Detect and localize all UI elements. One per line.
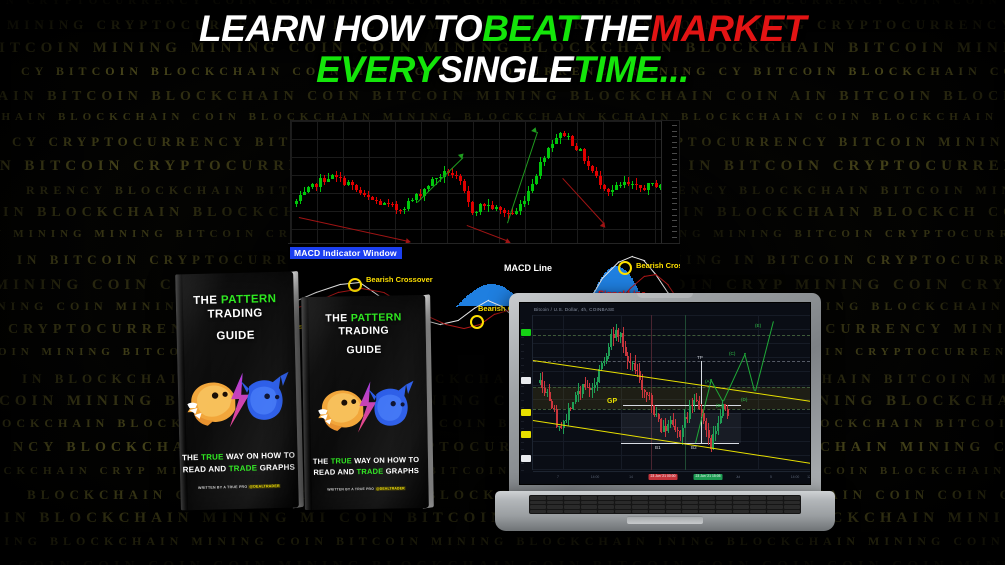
candle — [639, 185, 642, 193]
book-title-guide: GUIDE — [216, 329, 255, 342]
candle — [399, 209, 402, 214]
book-sub-graphs: GRAPHS — [257, 462, 295, 472]
book-sub-the: THE — [182, 453, 201, 462]
lc-price-tag — [521, 329, 531, 336]
candle — [327, 173, 330, 182]
book-title-the: THE — [325, 312, 351, 324]
keyboard-key[interactable] — [750, 510, 766, 514]
axis-tick — [672, 192, 677, 193]
candle — [455, 171, 458, 179]
lc-price-tick: — — [521, 440, 524, 444]
candle — [319, 174, 322, 192]
macd-window-title: MACD Indicator Window — [290, 247, 402, 259]
candle — [655, 180, 658, 188]
lc-price-tick: — — [521, 426, 524, 430]
keyboard-key[interactable] — [784, 496, 800, 500]
keyboard-key[interactable] — [784, 501, 800, 505]
bear-bull-logo — [184, 366, 290, 435]
lc-gridline-h — [533, 315, 810, 316]
keyboard-key[interactable] — [666, 501, 682, 505]
lc-price-tick: — — [521, 384, 524, 388]
candle — [499, 206, 502, 214]
crossover-marker-yellow-4 — [618, 261, 632, 275]
book-sub-graphs: GRAPHS — [383, 466, 419, 476]
lc-time-tick: 14 — [629, 475, 633, 479]
book-cover-left: THE PATTERN TRADING GUIDE — [175, 272, 299, 511]
lc-price-tag — [521, 431, 531, 438]
candle — [395, 201, 398, 214]
lc-label-wave-b: (B) — [716, 403, 722, 408]
keyboard-key[interactable] — [581, 501, 597, 505]
candle — [619, 182, 622, 189]
lc-price-tag — [521, 455, 531, 462]
book-title-the: THE — [193, 294, 221, 307]
axis-tick — [672, 231, 677, 232]
candle — [471, 201, 474, 215]
axis-tick — [672, 136, 677, 137]
candle — [479, 203, 482, 215]
candle — [607, 188, 610, 196]
keyboard-key[interactable] — [564, 501, 580, 505]
keyboard-key[interactable] — [530, 510, 546, 514]
keyboard-key[interactable] — [682, 505, 698, 509]
keyboard-key[interactable] — [615, 510, 631, 514]
candle — [451, 168, 454, 178]
axis-tick — [672, 170, 677, 171]
book-front-cover: THE PATTERN TRADING GUIDE — [175, 272, 299, 511]
keyboard-key[interactable] — [767, 510, 783, 514]
candle — [335, 171, 338, 182]
keyboard-key[interactable] — [750, 501, 766, 505]
axis-tick — [672, 226, 677, 227]
book-sub-the: THE — [313, 457, 331, 466]
candle — [371, 196, 374, 200]
laptop-screen: Bitcoin / U.S. Dollar, 4h, COINBASE ————… — [519, 302, 811, 485]
lc-label-wave-d: (D) — [741, 397, 747, 402]
crossover-marker-yellow-1 — [348, 278, 362, 292]
keyboard-key[interactable] — [733, 510, 749, 514]
candle — [579, 148, 582, 152]
lc-price-tick: — — [521, 419, 524, 423]
gridline-h — [291, 139, 679, 140]
gridline-h — [291, 157, 679, 158]
lc-price-tick: — — [521, 356, 524, 360]
keyboard-key[interactable] — [615, 501, 631, 505]
lc-label-gp: GP — [607, 398, 617, 405]
crossover-marker-yellow-3 — [470, 315, 484, 329]
keyboard-key[interactable] — [733, 501, 749, 505]
keyboard-key[interactable] — [716, 501, 732, 505]
keyboard-key[interactable] — [564, 496, 580, 500]
axis-tick — [672, 187, 677, 188]
book-author-line: WRITTEN BY A TRUE PRO @DEALTRADER — [180, 484, 298, 491]
candle — [523, 196, 526, 207]
candle — [387, 199, 390, 207]
keyboard-key[interactable] — [598, 501, 614, 505]
book-author-text: WRITTEN BY A TRUE PRO — [327, 487, 375, 492]
candle — [459, 174, 462, 185]
macd-histogram-bar — [456, 306, 458, 307]
keyboard-key[interactable] — [699, 496, 715, 500]
keyboard-key[interactable] — [784, 505, 800, 509]
candle — [627, 177, 630, 186]
candle — [379, 199, 382, 206]
bear-bull-logo — [311, 375, 420, 439]
lc-label-b2: B2 — [691, 445, 697, 450]
axis-tick — [672, 203, 677, 204]
book-title-guide: GUIDE — [346, 344, 381, 357]
lc-label-b1: B1 — [655, 445, 661, 450]
keyboard-key[interactable] — [666, 505, 682, 509]
lc-price-tick: — — [521, 321, 524, 325]
book-sub-true: TRUE — [331, 456, 352, 465]
candle — [367, 191, 370, 200]
laptop-lid-notch — [637, 293, 693, 298]
headline-word-1: SINGLE — [438, 49, 573, 90]
keyboard-key[interactable] — [767, 501, 783, 505]
candle — [487, 199, 490, 212]
keyboard-key[interactable] — [699, 510, 715, 514]
candle — [307, 186, 310, 193]
book-sub-trade: TRADE — [357, 467, 384, 476]
candle — [411, 198, 414, 202]
candle — [623, 176, 626, 188]
lc-time-tick: 5 — [770, 475, 772, 479]
gridline-h — [291, 193, 679, 194]
lc-time-tick: Jul — [736, 475, 740, 479]
lc-time-tick: 14:00 — [791, 475, 800, 479]
candle — [363, 190, 366, 197]
gridline-h — [291, 175, 679, 176]
keyboard-key[interactable] — [581, 505, 597, 509]
keyboard-key[interactable] — [547, 501, 563, 505]
keyboard-key[interactable] — [598, 505, 614, 509]
candle — [347, 180, 350, 186]
candle — [463, 179, 466, 194]
lc-candle — [727, 405, 729, 419]
axis-tick — [672, 237, 677, 238]
book-sub-true: TRUE — [201, 452, 224, 462]
candle — [407, 198, 410, 211]
book-title: THE PATTERN TRADING GUIDE — [301, 311, 426, 359]
candle — [515, 208, 518, 216]
lc-gridline-h — [533, 385, 810, 386]
book-author-line: WRITTEN BY A TRUE PRO @DEALTRADER — [304, 486, 428, 492]
signal-line — [446, 324, 465, 329]
keyboard-key[interactable] — [615, 505, 631, 509]
keyboard-key[interactable] — [564, 510, 580, 514]
candle — [559, 132, 562, 144]
laptop-keyboard — [529, 495, 801, 514]
laptop-mockup: Bitcoin / U.S. Dollar, 4h, COINBASE ————… — [495, 293, 835, 535]
book-sub-way: WAY ON HOW TO — [352, 455, 419, 465]
keyboard-key[interactable] — [682, 510, 698, 514]
book-title-trading: TRADING — [207, 308, 262, 321]
keyboard-key[interactable] — [682, 496, 698, 500]
book-logo-wrapper — [303, 373, 428, 441]
keyboard-key[interactable] — [564, 505, 580, 509]
candle — [575, 143, 578, 151]
headline-word-2: TIME... — [573, 49, 689, 90]
candle — [631, 181, 634, 189]
lc-price-tick: — — [521, 398, 524, 402]
keyboard-key[interactable] — [632, 501, 648, 505]
lc-gridline-h — [533, 329, 810, 330]
axis-tick — [672, 181, 677, 182]
background-text-row: AIN BITCOIN BLOCKCHAIN COIN BITCOIN MINI… — [0, 90, 1005, 104]
candle — [555, 134, 558, 144]
headline-line-2: EVERY SINGLE TIME... — [0, 49, 1005, 90]
candle — [375, 197, 378, 204]
keyboard-key[interactable] — [547, 496, 563, 500]
keyboard-key[interactable] — [649, 505, 665, 509]
keyboard-key[interactable] — [767, 505, 783, 509]
lc-price-tick: — — [521, 349, 524, 353]
lc-time-tick: 12 — [807, 475, 811, 479]
lc-price-tick: — — [521, 447, 524, 451]
keyboard-key[interactable] — [530, 505, 546, 509]
candle — [651, 183, 654, 186]
headline-word-0: LEARN HOW TO — [199, 8, 482, 49]
lc-candle — [568, 403, 570, 426]
keyboard-key[interactable] — [733, 496, 749, 500]
book-sub-trade: TRADE — [229, 463, 258, 473]
candle — [583, 148, 586, 164]
lc-time-badge-red: 23 Jun '21 00:00 — [649, 474, 678, 480]
book-author-handle: @DEALTRADER — [248, 484, 280, 489]
lc-label-wave-e: (E) — [755, 323, 761, 328]
candle — [531, 179, 534, 193]
laptop-lid: Bitcoin / U.S. Dollar, 4h, COINBASE ————… — [509, 293, 821, 498]
trend-arrow-up-2 — [507, 132, 538, 223]
book-logo-wrapper — [177, 364, 297, 437]
lc-label-wave-a: (A) — [705, 379, 711, 384]
gridline-h — [291, 211, 679, 212]
candle — [563, 131, 566, 137]
candle — [359, 187, 362, 194]
candle — [547, 147, 550, 159]
candle — [599, 171, 602, 189]
lc-label-tp: TP — [697, 355, 703, 360]
keyboard-key[interactable] — [699, 501, 715, 505]
candle — [303, 187, 306, 196]
candle — [311, 183, 314, 189]
headline-word-0: EVERY — [316, 49, 438, 90]
book-cover-right: THE PATTERN TRADING GUIDE — [301, 295, 429, 510]
book-subtitle: THE TRUE WAY ON HOW TO READ AND TRADE GR… — [179, 450, 298, 476]
axis-tick — [672, 175, 677, 176]
candle — [571, 135, 574, 145]
lc-time-badge-green: 23 Jun '21 15:05 — [694, 474, 723, 480]
laptop-chart-price-axis: —————————————————————— — [520, 315, 533, 470]
lc-price-tick: — — [521, 370, 524, 374]
crossover-label-4: Bearish Crossover — [636, 261, 680, 270]
book-sub-read: READ AND — [183, 464, 229, 474]
lc-level-dashed — [533, 409, 810, 410]
keyboard-key[interactable] — [649, 510, 665, 514]
axis-tick — [672, 198, 677, 199]
laptop-trackpad[interactable] — [627, 516, 703, 524]
lc-time-tick: 7 — [557, 475, 559, 479]
laptop-chart-plot: TPGPB1B2(A)(B)(C)(D)(E) — [533, 315, 810, 470]
keyboard-key[interactable] — [666, 496, 682, 500]
lc-price-tick: — — [521, 363, 524, 367]
candle — [339, 172, 342, 182]
lc-price-tag — [521, 409, 531, 416]
keyboard-key[interactable] — [598, 496, 614, 500]
candle — [591, 165, 594, 173]
keyboard-key[interactable] — [530, 501, 546, 505]
trend-arrow-up-1 — [417, 157, 464, 203]
axis-tick — [672, 153, 677, 154]
keyboard-key[interactable] — [547, 505, 563, 509]
headline-word-2: THE — [578, 8, 651, 49]
background-text-row: COIN CRYPTOCURRENCY COIN COIN MINING COI… — [0, 0, 1005, 7]
lc-gridline-h — [533, 371, 810, 372]
candle — [495, 205, 498, 211]
crossover-label-1: Bearish Crossover — [366, 275, 433, 284]
keyboard-key[interactable] — [716, 496, 732, 500]
book-author-handle: @DEALTRADER — [375, 486, 406, 491]
keyboard-key[interactable] — [733, 505, 749, 509]
keyboard-key[interactable] — [649, 496, 665, 500]
candle — [315, 183, 318, 191]
candle — [527, 186, 530, 205]
keyboard-key[interactable] — [784, 510, 800, 514]
keyboard-key[interactable] — [632, 505, 648, 509]
keyboard-key[interactable] — [750, 505, 766, 509]
candle — [503, 208, 506, 217]
keyboard-key[interactable] — [530, 496, 546, 500]
lc-price-tick: — — [521, 342, 524, 346]
background-text-row: INING BLOCKCHAIN MINING COIN BITCOIN MIN… — [0, 535, 1005, 547]
candle — [519, 200, 522, 215]
candle — [643, 185, 646, 191]
keyboard-key[interactable] — [632, 496, 648, 500]
candle — [355, 184, 358, 193]
candle — [543, 156, 546, 167]
headline-word-3: MARKET — [651, 8, 806, 49]
macd-line-label: MACD Line — [504, 263, 552, 273]
candle — [535, 174, 538, 184]
book-title-trading: TRADING — [338, 325, 389, 338]
candle — [491, 201, 494, 210]
book-title-pattern: PATTERN — [221, 293, 277, 306]
axis-tick — [672, 147, 677, 148]
candle — [331, 174, 334, 179]
keyboard-key[interactable] — [716, 510, 732, 514]
candle — [567, 133, 570, 140]
gridline-h — [291, 121, 679, 122]
axis-tick — [672, 209, 677, 210]
axis-tick — [672, 131, 677, 132]
axis-tick — [672, 164, 677, 165]
candle — [595, 167, 598, 178]
background-text-row: COIN COIN COIN COIN MINING BLOCKCHAIN CO… — [18, 560, 1005, 565]
book-title: THE PATTERN TRADING GUIDE — [176, 292, 295, 345]
keyboard-key[interactable] — [581, 510, 597, 514]
candle — [467, 186, 470, 207]
keyboard-key[interactable] — [666, 510, 682, 514]
keyboard-key[interactable] — [699, 505, 715, 509]
keyboard-key[interactable] — [716, 505, 732, 509]
candle — [587, 156, 590, 170]
candle — [391, 202, 394, 207]
candle — [647, 183, 650, 195]
book-author-text: WRITTEN BY A TRUE PRO — [198, 485, 249, 490]
keyboard-key[interactable] — [682, 501, 698, 505]
lc-price-tick: — — [521, 468, 524, 472]
candle — [551, 140, 554, 151]
keyboard-key[interactable] — [632, 510, 648, 514]
lc-level-dashed — [533, 361, 810, 362]
candle — [351, 180, 354, 189]
keyboard-key[interactable] — [598, 510, 614, 514]
candle — [299, 191, 302, 204]
laptop-chart-time-axis: 714:001416:00Jul514:001223 Jun '21 00:00… — [533, 471, 810, 484]
axis-tick — [672, 215, 677, 216]
book-front-cover: THE PATTERN TRADING GUIDE — [301, 295, 429, 510]
book-sub-way: WAY ON HOW TO — [224, 451, 296, 462]
keyboard-key[interactable] — [547, 510, 563, 514]
lc-gridline-h — [533, 343, 810, 344]
book-subtitle: THE TRUE WAY ON HOW TO READ AND TRADE GR… — [304, 455, 428, 479]
lc-price-tick: — — [521, 391, 524, 395]
keyboard-key[interactable] — [767, 496, 783, 500]
candle — [383, 202, 386, 206]
candle — [615, 182, 618, 190]
headline-block: LEARN HOW TO BEAT THE MARKET EVERY SINGL… — [0, 8, 1005, 90]
laptop-base — [495, 491, 835, 531]
axis-tick — [672, 125, 677, 126]
candle — [403, 207, 406, 214]
candle — [539, 157, 542, 179]
lc-label-wave-c: (C) — [729, 351, 735, 356]
keyboard-key[interactable] — [615, 496, 631, 500]
candle — [611, 185, 614, 196]
headline-word-1: BEAT — [482, 8, 578, 49]
lc-tp-measure — [701, 361, 702, 443]
lc-price-tag — [521, 377, 531, 384]
lc-time-tick: 14:00 — [591, 475, 600, 479]
book-title-pattern: PATTERN — [351, 311, 402, 324]
lc-gridline-h — [533, 357, 810, 358]
headline-line-1: LEARN HOW TO BEAT THE MARKET — [0, 8, 1005, 49]
keyboard-key[interactable] — [750, 496, 766, 500]
candle — [323, 175, 326, 185]
keyboard-key[interactable] — [649, 501, 665, 505]
axis-tick — [672, 220, 677, 221]
lc-gridline-h — [533, 469, 810, 470]
candle — [483, 203, 486, 210]
candle — [343, 176, 346, 186]
candle — [603, 184, 606, 191]
book-sub-read: READ AND — [313, 467, 356, 477]
axis-tick — [672, 142, 677, 143]
candle — [635, 178, 638, 190]
candle — [295, 199, 298, 206]
keyboard-key[interactable] — [581, 496, 597, 500]
lc-level-dashed — [533, 387, 810, 388]
axis-tick — [672, 159, 677, 160]
candle — [475, 211, 478, 216]
